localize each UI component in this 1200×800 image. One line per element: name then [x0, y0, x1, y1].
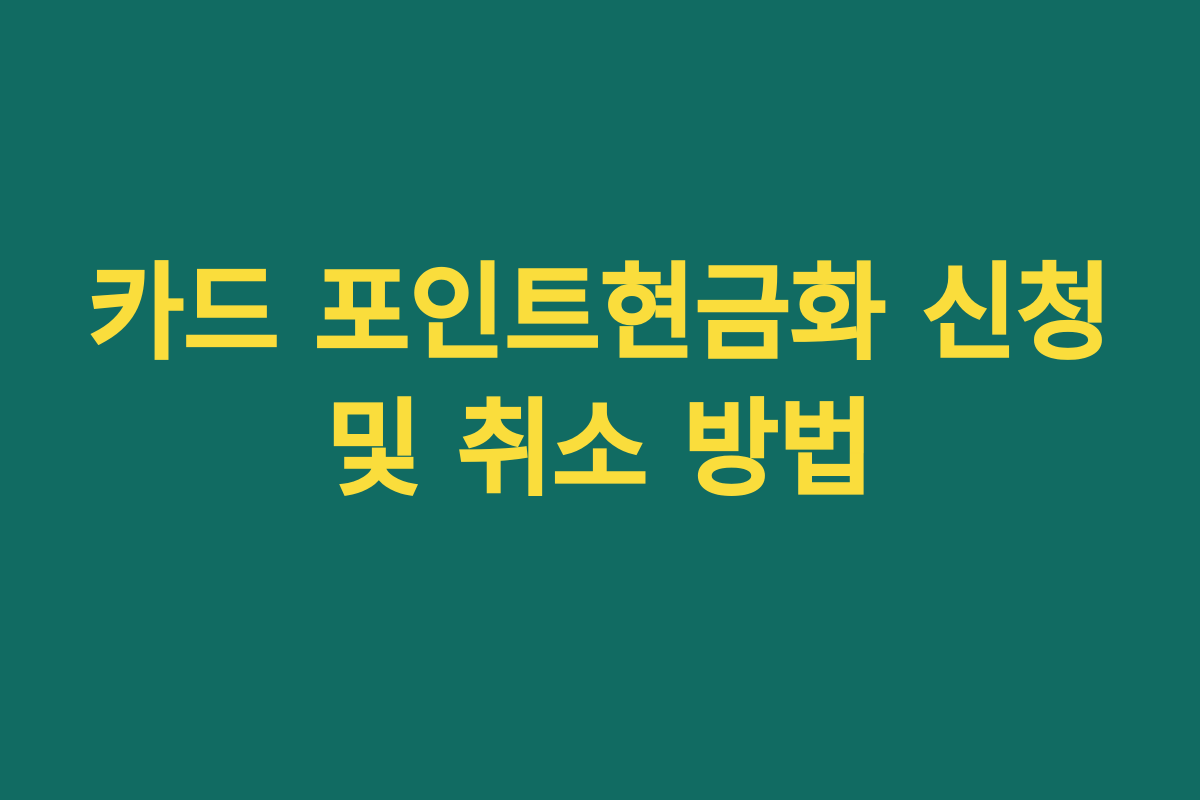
title-line-1: 카드 포인트현금화 신청 — [24, 245, 1176, 381]
title-line-2: 및 취소 방법 — [24, 381, 1176, 517]
thumbnail-card: 카드 포인트현금화 신청 및 취소 방법 — [0, 0, 1200, 800]
title-block: 카드 포인트현금화 신청 및 취소 방법 — [0, 245, 1200, 517]
